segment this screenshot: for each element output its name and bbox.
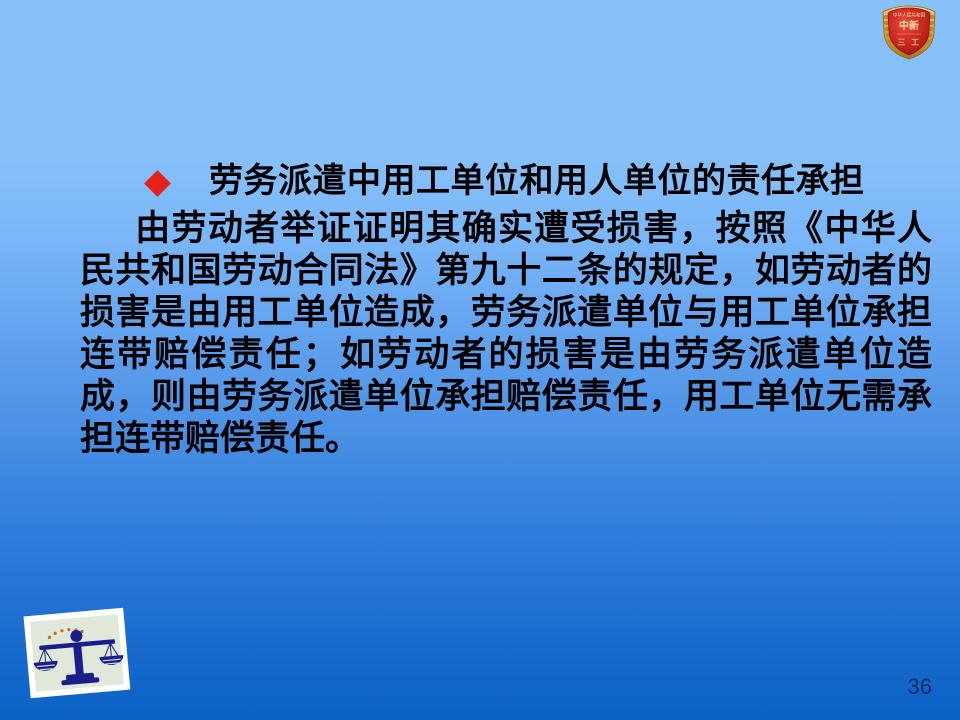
emblem-sub-text: 三 工 [897, 38, 920, 47]
emblem-top-text: 中华人民共和国 [893, 12, 926, 19]
heading-line: 劳务派遣中用工单位和用人单位的责任承担 [0, 160, 960, 202]
body-paragraph: 由劳动者举证证明其确实遭受损害，按照《中华人民共和国劳动合同法》第九十二条的规定… [0, 208, 960, 460]
scales-of-justice-icon [18, 598, 136, 710]
slide-canvas: 中华人民共和国 中新 三 工 劳务派遣中用工单位和用人单位的责任承担 由劳动者举… [0, 0, 960, 720]
slide-text-block: 劳务派遣中用工单位和用人单位的责任承担 由劳动者举证证明其确实遭受损害，按照《中… [0, 160, 960, 460]
police-shield-emblem: 中华人民共和国 中新 三 工 [878, 3, 940, 61]
page-number: 36 [908, 676, 932, 698]
heading-text: 劳务派遣中用工单位和用人单位的责任承担 [209, 161, 865, 201]
body-text: 由劳动者举证证明其确实遭受损害，按照《中华人民共和国劳动合同法》第九十二条的规定… [80, 209, 932, 459]
emblem-center-text: 中新 [899, 19, 919, 32]
red-diamond-icon [144, 170, 171, 197]
